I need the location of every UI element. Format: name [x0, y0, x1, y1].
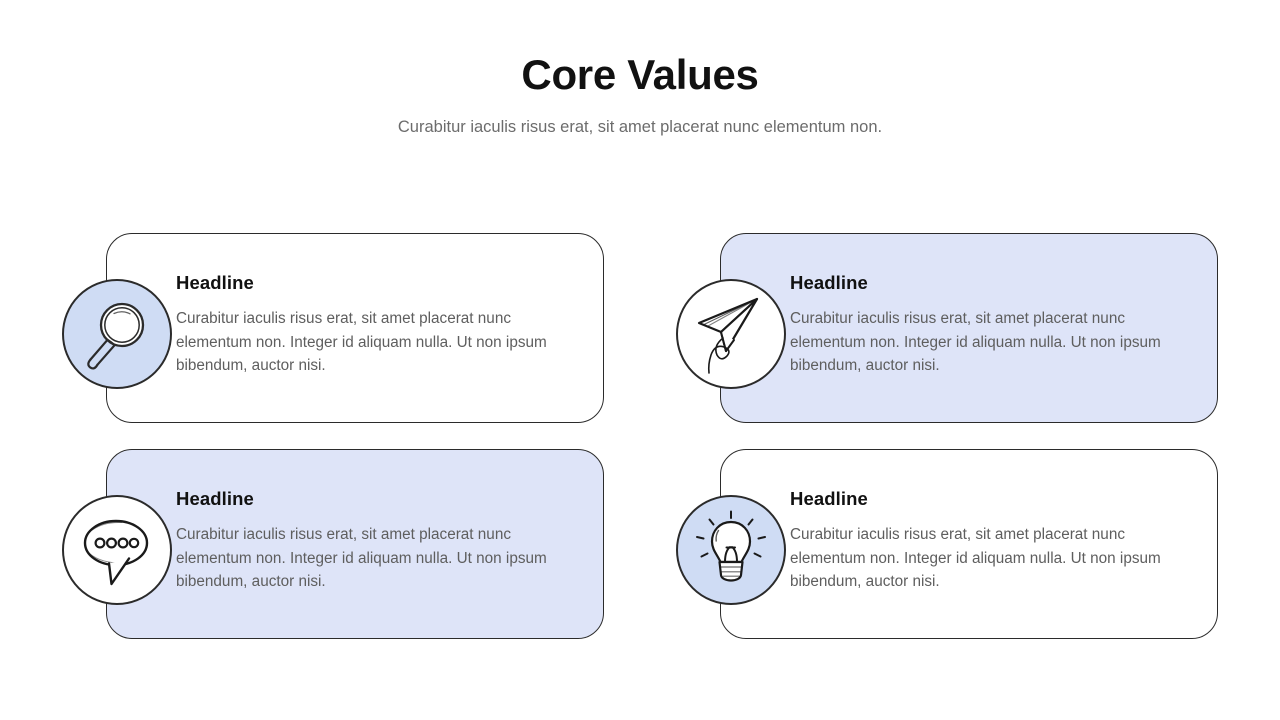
card-item[interactable]: Headline Curabitur iaculis risus erat, s… [676, 449, 1218, 639]
slide-header: Core Values Curabitur iaculis risus erat… [0, 0, 1280, 139]
speech-bubble-icon [62, 495, 172, 605]
card-headline: Headline [790, 488, 1200, 510]
card-description: Curabitur iaculis risus erat, sit amet p… [176, 523, 580, 594]
card-headline: Headline [176, 488, 586, 510]
paper-plane-icon [676, 279, 786, 389]
lightbulb-icon [676, 495, 786, 605]
card-body: Headline Curabitur iaculis risus erat, s… [790, 488, 1200, 594]
card-item[interactable]: Headline Curabitur iaculis risus erat, s… [62, 233, 604, 423]
card-headline: Headline [790, 272, 1200, 294]
card-description: Curabitur iaculis risus erat, sit amet p… [790, 307, 1194, 378]
card-item[interactable]: Headline Curabitur iaculis risus erat, s… [62, 449, 604, 639]
card-body: Headline Curabitur iaculis risus erat, s… [176, 488, 586, 594]
card-headline: Headline [176, 272, 586, 294]
card-description: Curabitur iaculis risus erat, sit amet p… [790, 523, 1194, 594]
core-values-card-grid: Headline Curabitur iaculis risus erat, s… [0, 233, 1280, 639]
card-body: Headline Curabitur iaculis risus erat, s… [176, 272, 586, 378]
card-body: Headline Curabitur iaculis risus erat, s… [790, 272, 1200, 378]
page-subtitle: Curabitur iaculis risus erat, sit amet p… [0, 117, 1280, 138]
magnifier-icon [62, 279, 172, 389]
page-title: Core Values [0, 52, 1280, 98]
card-item[interactable]: Headline Curabitur iaculis risus erat, s… [676, 233, 1218, 423]
card-description: Curabitur iaculis risus erat, sit amet p… [176, 307, 580, 378]
